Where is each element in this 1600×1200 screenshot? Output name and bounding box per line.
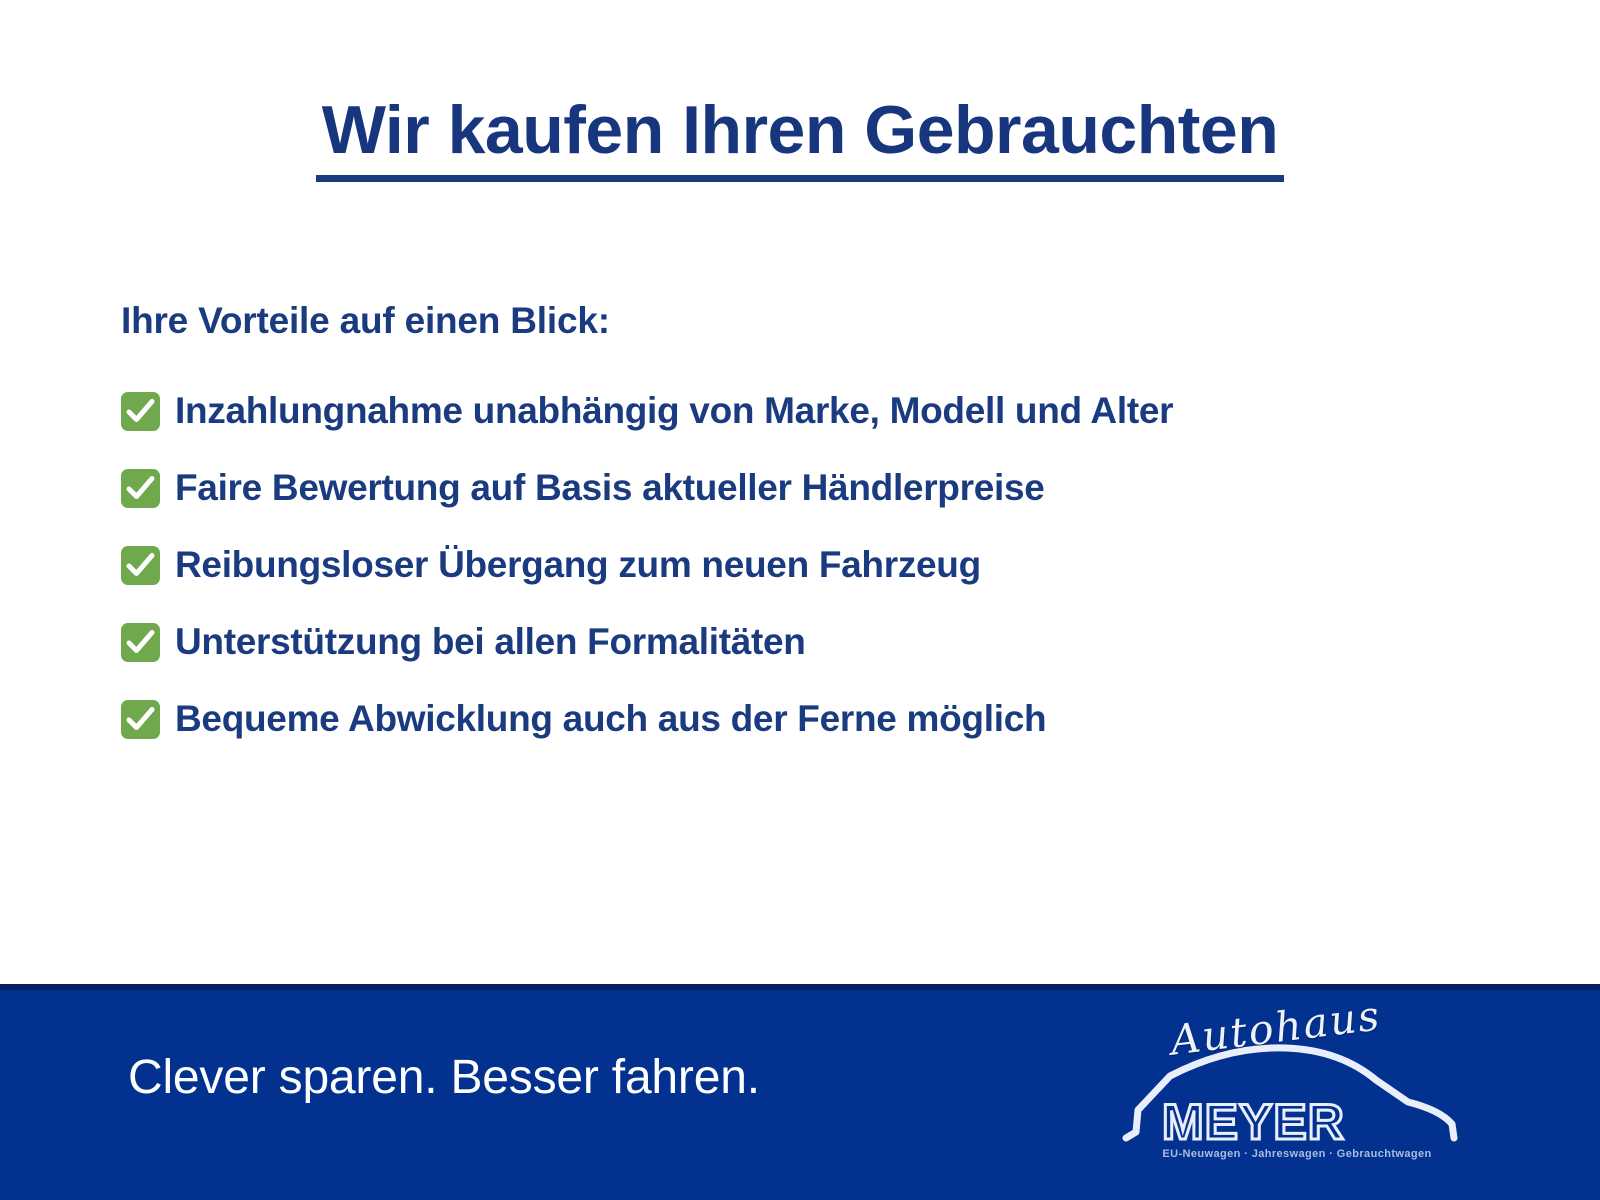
footer-banner: Clever sparen. Besser fahren. Autohaus M…	[0, 984, 1600, 1200]
list-item-label: Bequeme Abwicklung auch aus der Ferne mö…	[175, 700, 1046, 739]
benefits-subheading: Ihre Vorteile auf einen Blick:	[121, 300, 610, 342]
benefits-list: Inzahlungnahme unabhängig von Marke, Mod…	[121, 373, 1521, 758]
green-check-icon	[121, 469, 160, 508]
list-item: Inzahlungnahme unabhängig von Marke, Mod…	[121, 373, 1521, 450]
footer-slogan: Clever sparen. Besser fahren.	[128, 1050, 760, 1105]
list-item-label: Inzahlungnahme unabhängig von Marke, Mod…	[175, 392, 1173, 431]
list-item: Reibungsloser Übergang zum neuen Fahrzeu…	[121, 527, 1521, 604]
green-check-icon	[121, 623, 160, 662]
list-item-label: Unterstützung bei allen Formalitäten	[175, 623, 806, 662]
page-title: Wir kaufen Ihren Gebrauchten	[316, 96, 1284, 182]
list-item-label: Reibungsloser Übergang zum neuen Fahrzeu…	[175, 546, 981, 585]
logo-subtitle-text: EU-Neuwagen · Jahreswagen · Gebrauchtwag…	[1132, 1148, 1462, 1160]
flyer-page: Wir kaufen Ihren Gebrauchten Ihre Vortei…	[0, 0, 1600, 1200]
logo-name-text: MEYER	[1162, 1093, 1345, 1151]
list-item-label: Faire Bewertung auf Basis aktueller Händ…	[175, 469, 1045, 508]
list-item: Faire Bewertung auf Basis aktueller Händ…	[121, 450, 1521, 527]
green-check-icon	[121, 546, 160, 585]
list-item: Unterstützung bei allen Formalitäten	[121, 604, 1521, 681]
list-item: Bequeme Abwicklung auch aus der Ferne mö…	[121, 681, 1521, 758]
autohaus-meyer-logo: Autohaus MEYER EU-Neuwagen · Jahreswagen…	[1108, 998, 1468, 1173]
green-check-icon	[121, 392, 160, 431]
page-title-container: Wir kaufen Ihren Gebrauchten	[0, 96, 1600, 182]
green-check-icon	[121, 700, 160, 739]
